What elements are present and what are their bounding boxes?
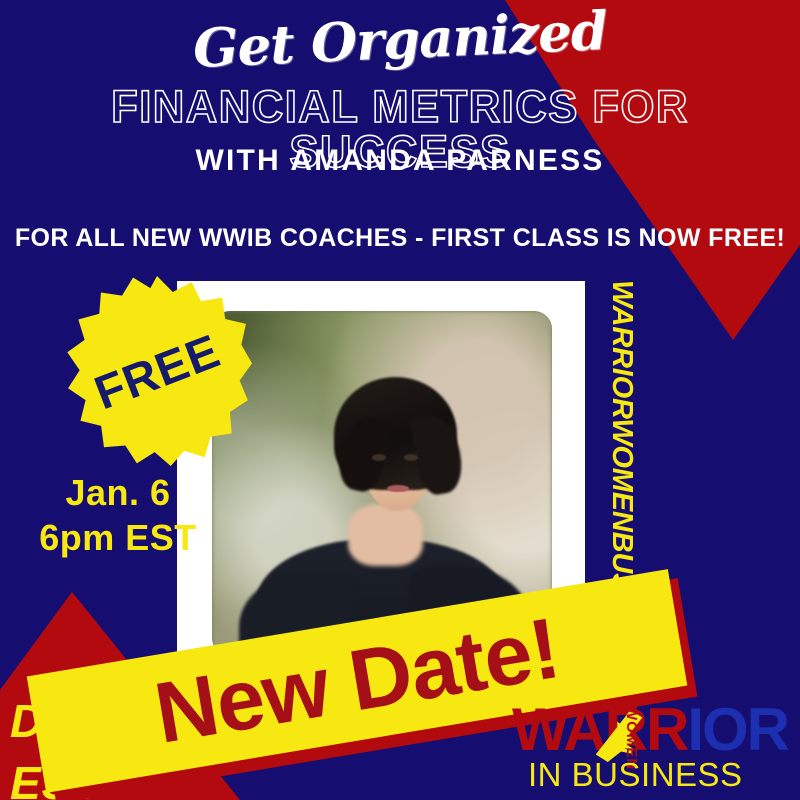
presenter-name: WITH AMANDA PARNESS — [0, 144, 800, 178]
photo-eye-left — [372, 454, 386, 461]
event-date-line1: Jan. 6 — [18, 470, 218, 515]
logo-in-business: IN BUSINESS — [528, 756, 743, 794]
photo-eye-right — [404, 454, 418, 461]
promo-poster: Get Organized FINANCIAL METRICS FOR SUCC… — [0, 0, 800, 800]
warrior-women-in-business-logo: WARRIOR WOMEN IN BUSINESS — [512, 700, 796, 792]
logo-warrior-part2: IOR — [687, 696, 788, 763]
logo-warrior-wordmark: WARRIOR — [512, 700, 788, 760]
event-date: Jan. 6 6pm EST — [18, 470, 218, 560]
photo-neck — [348, 504, 423, 566]
event-date-line2: 6pm EST — [18, 515, 218, 560]
promo-offer-line: FOR ALL NEW WWIB COACHES - FIRST CLASS I… — [0, 224, 800, 253]
